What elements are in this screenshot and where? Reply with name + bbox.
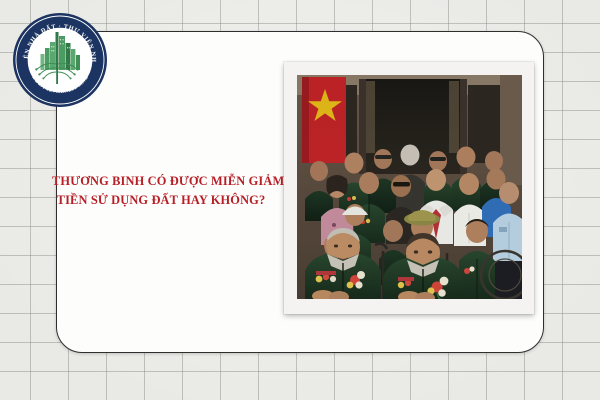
poster-title: THƯƠNG BINH CÓ ĐƯỢC MIỄN GIẢM TIỀN SỬ DỤ… [52, 172, 270, 210]
photo-illustration [297, 75, 522, 299]
title-line-1: THƯƠNG BINH CÓ ĐƯỢC MIỄN GIẢM [52, 172, 270, 191]
brand-logo-seal[interactable]: THƯ VIỆN NHÀ ĐẤT · THƯ VIỆN NHÀ ĐẤT www.… [12, 12, 108, 108]
title-line-2: TIỀN SỬ DỤNG ĐẤT HAY KHÔNG? [52, 191, 270, 210]
veterans-group-photo [297, 75, 522, 299]
photo-frame [284, 62, 534, 314]
seal-icon: THƯ VIỆN NHÀ ĐẤT · THƯ VIỆN NHÀ ĐẤT www.… [12, 12, 108, 108]
poster-canvas: THƯ VIỆN NHÀ ĐẤT · THƯ VIỆN NHÀ ĐẤT www.… [0, 0, 600, 400]
